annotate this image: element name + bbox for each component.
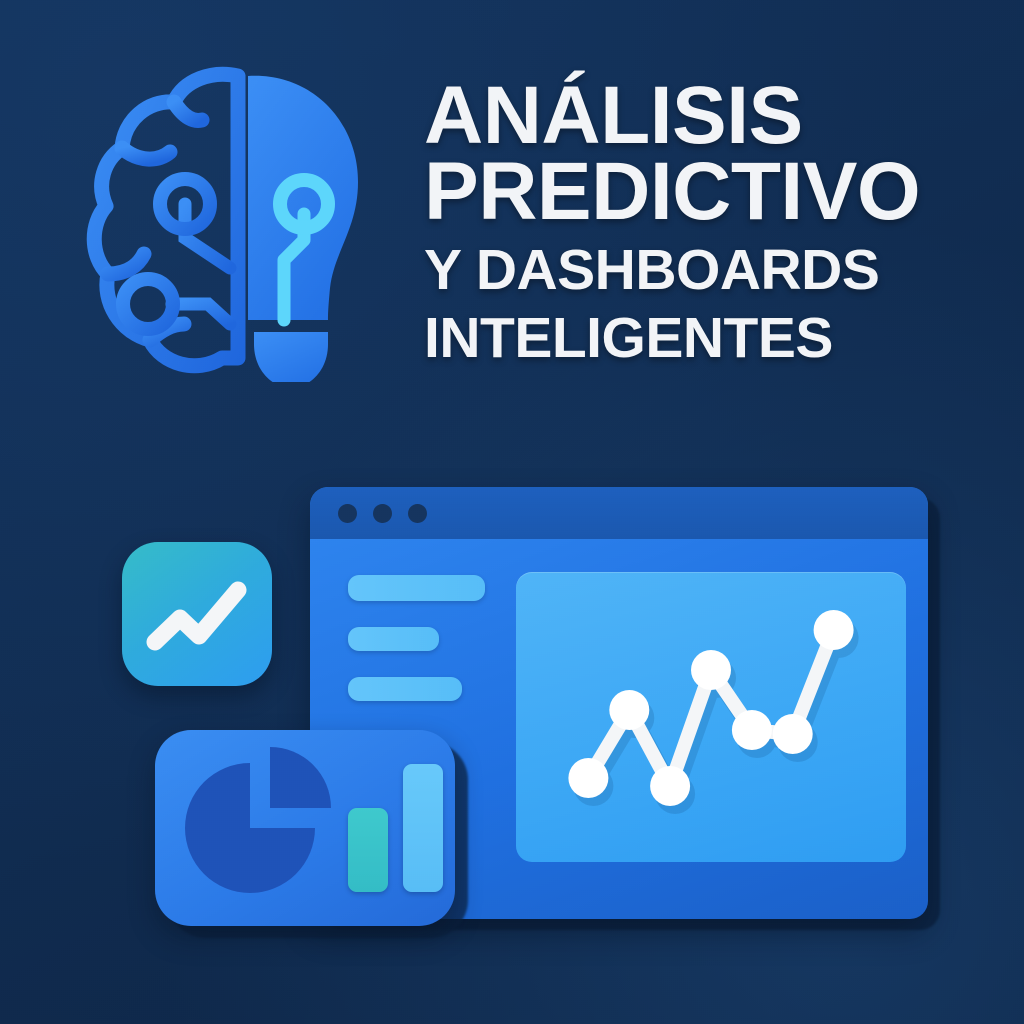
chart-marker bbox=[732, 710, 772, 750]
chart-marker bbox=[609, 690, 649, 730]
headline-line-4: INTELIGENTES bbox=[424, 309, 984, 367]
pie-slice-exploded bbox=[270, 747, 331, 808]
headline-line-2: PREDICTIVO bbox=[424, 154, 984, 230]
chart-marker bbox=[650, 766, 690, 806]
brain-fold-2 bbox=[122, 148, 170, 159]
window-title-bar bbox=[310, 487, 928, 539]
line-chart-svg bbox=[516, 572, 906, 862]
sparkline-icon bbox=[122, 542, 272, 686]
chart-marker bbox=[568, 758, 608, 798]
placeholder-bar-medium bbox=[348, 677, 462, 701]
window-dot-minimize-icon[interactable] bbox=[373, 504, 392, 523]
poster-canvas: ANÁLISIS PREDICTIVO Y DASHBOARDS INTELIG… bbox=[0, 0, 1024, 1024]
lightbulb-glass bbox=[248, 76, 358, 320]
placeholder-bar-wide bbox=[348, 575, 485, 601]
window-dot-close-icon[interactable] bbox=[338, 504, 357, 523]
brain-lightbulb-icon bbox=[62, 52, 392, 382]
headline-line-3: Y DASHBOARDS bbox=[424, 241, 984, 299]
brain-fold-1 bbox=[174, 102, 202, 120]
placeholder-bar-short bbox=[348, 627, 439, 651]
chart-marker bbox=[814, 610, 854, 650]
lightbulb-base bbox=[254, 332, 328, 382]
sparkline-icon-tile[interactable] bbox=[122, 542, 272, 686]
window-dot-maximize-icon[interactable] bbox=[408, 504, 427, 523]
headline-block: ANÁLISIS PREDICTIVO Y DASHBOARDS INTELIG… bbox=[424, 78, 984, 367]
analytics-tile[interactable] bbox=[155, 730, 455, 926]
bar-b bbox=[403, 764, 443, 892]
chart-marker bbox=[691, 650, 731, 690]
bar-a bbox=[348, 808, 388, 892]
line-chart-panel bbox=[516, 572, 906, 862]
chart-marker bbox=[773, 714, 813, 754]
headline-line-1: ANÁLISIS bbox=[424, 78, 984, 154]
brain-fold-3 bbox=[108, 254, 144, 274]
